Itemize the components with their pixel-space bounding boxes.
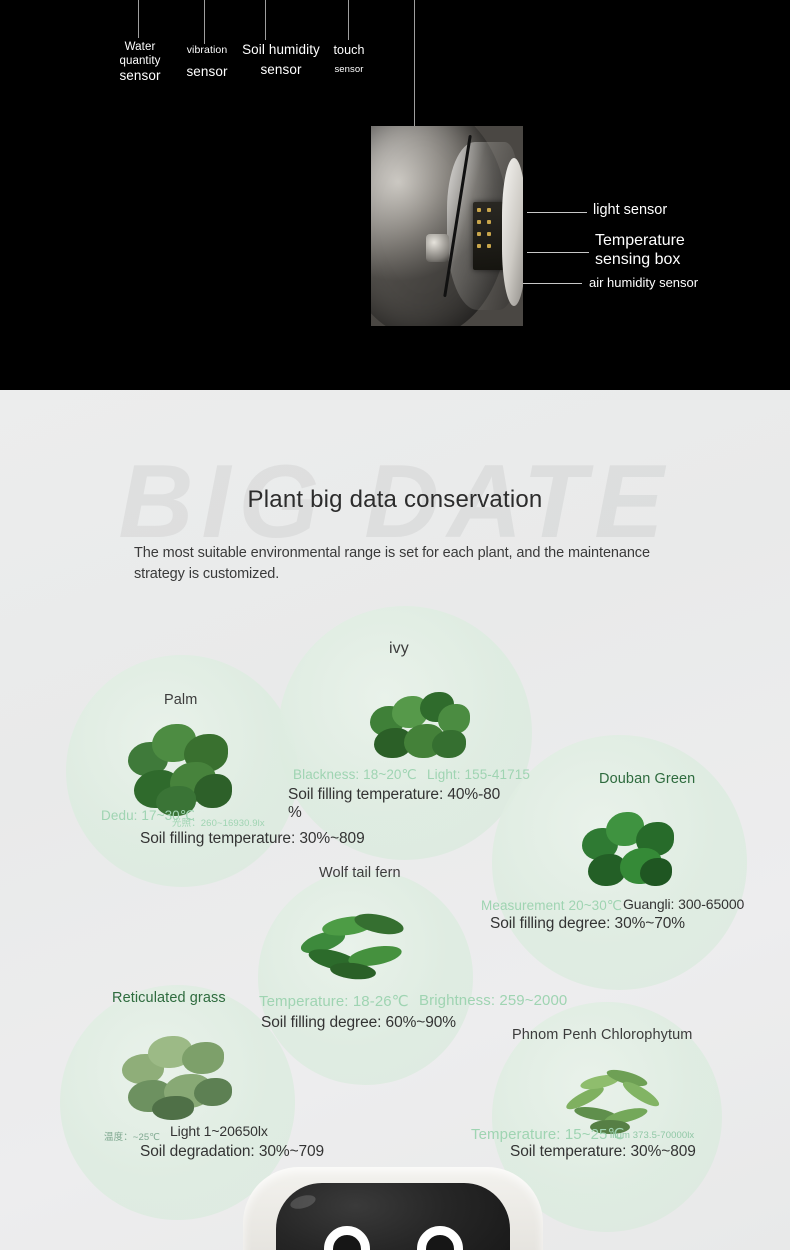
label-air-humidity-sensor: air humidity sensor [589,275,698,291]
label-line-3: sensor [110,68,170,84]
plant-art-reticulated-grass [118,1030,244,1122]
label-line-1: vibration [176,44,238,57]
leader-line-temperature-box [527,252,589,253]
plant-light-douban-green: Guangli: 300-65000 [623,896,744,912]
plant-name-douban-green: Douban Green [599,771,695,787]
page-subtitle: The most suitable environmental range is… [134,543,664,585]
label-line-1: touch [322,43,376,58]
plant-soil-phnom-penh-chlorophytum: Soil temperature: 30%~809 [510,1143,696,1161]
label-line-2: sensing box [595,250,685,269]
plant-bigdata-section: BIG DATE Plant big data conservation The… [0,390,790,1250]
robot-screen-glare [289,1193,317,1212]
plant-name-phnom-penh-chlorophytum: Phnom Penh Chlorophytum [512,1027,692,1043]
plant-light-reticulated-grass: Light 1~20650lx [170,1123,268,1139]
sensor-diagram-section: Water quantity sensor vibration sensor S… [0,0,790,390]
plant-art-palm [122,720,240,818]
plant-art-ivy [368,690,472,762]
plant-soil-wolf-tail-fern: Soil filling degree: 60%~90% [261,1014,456,1032]
plant-art-wolf-tail-fern [300,905,422,985]
leader-line-touch [348,0,349,40]
device-rim [502,158,523,306]
label-light-sensor: light sensor [593,202,667,219]
plant-light-wolf-tail-fern: Brightness: 259~2000 [419,992,567,1009]
label-line-3: sensor [176,64,238,80]
plant-temp-phnom-penh-chlorophytum: Temperature: 15~25℃ [471,1125,624,1143]
leader-line-water [138,0,139,38]
label-line-1: Water [110,40,170,54]
plant-light-phnom-penh-chlorophytum: illum 373.5-70000lx [610,1130,694,1141]
plant-temp-ivy: Blackness: 18~20℃ [293,767,417,783]
plant-temp-wolf-tail-fern: Temperature: 18-26℃ [259,992,409,1010]
plant-light-ivy: Light: 155-41715 [427,767,530,782]
leader-line-light-sensor [527,212,587,213]
plant-soil-reticulated-grass: Soil degradation: 30%~709 [140,1143,324,1161]
device-cable [443,135,472,297]
leader-line-soil-humidity [265,0,266,40]
label-vibration-sensor: vibration sensor [176,44,238,80]
plant-soil-palm: Soil filling temperature: 30%~809 [140,830,365,848]
robot-body [243,1167,543,1250]
label-line-2: quantity [110,54,170,68]
plant-temp-reticulated-grass: 温度：~25℃ [104,1129,160,1143]
plant-name-palm: Palm [164,692,197,708]
plant-soil-douban-green: Soil filling degree: 30%~70% [490,915,685,933]
label-line-3: sensor [232,62,330,78]
device-internals-photo [371,126,523,326]
plant-temp-douban-green: Measurement 20~30℃ [481,898,622,914]
plant-care-robot [243,1167,543,1250]
label-line-3: sensor [322,64,376,76]
plant-soil-ivy: Soil filling temperature: 40%-80 % [288,786,518,822]
leader-line-vibration [204,0,205,44]
page-root: Water quantity sensor vibration sensor S… [0,0,790,1250]
plant-art-douban-green [578,808,678,890]
plant-light-palm: 光照：260~16930.9lx [172,815,265,829]
page-title: Plant big data conservation [0,486,790,514]
robot-face-screen [276,1183,510,1250]
plant-name-reticulated-grass: Reticulated grass [112,990,226,1006]
label-touch-sensor: touch sensor [322,43,376,76]
label-soil-humidity-sensor: Soil humidity sensor [232,42,330,79]
label-temperature-sensing-box: Temperature sensing box [595,231,685,269]
label-line-1: Temperature [595,231,685,250]
plant-name-wolf-tail-fern: Wolf tail fern [319,865,401,881]
label-line-1: Soil humidity [232,42,330,58]
label-water-quantity-sensor: Water quantity sensor [110,40,170,85]
sensor-lens [426,234,449,262]
robot-eye-left-icon [324,1226,370,1250]
robot-eye-right-icon [417,1226,463,1250]
plant-name-ivy: ivy [389,640,409,658]
